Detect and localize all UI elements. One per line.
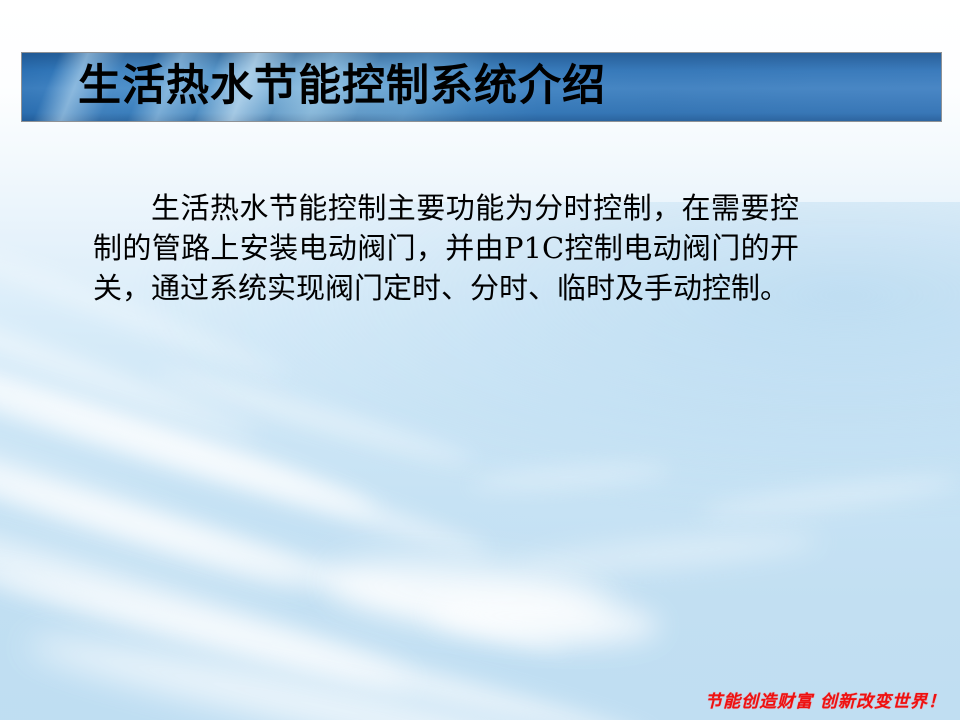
- slide: 生活热水节能控制系统介绍 生活热水节能控制主要功能为分时控制，在需要控制的管路上…: [0, 0, 960, 720]
- title-banner: 生活热水节能控制系统介绍: [21, 52, 942, 122]
- footer-slogan: 节能创造财富 创新改变世界！: [705, 687, 946, 712]
- page-title: 生活热水节能控制系统介绍: [78, 53, 606, 121]
- body-paragraph: 生活热水节能控制主要功能为分时控制，在需要控制的管路上安装电动阀门，并由P1C控…: [93, 188, 799, 308]
